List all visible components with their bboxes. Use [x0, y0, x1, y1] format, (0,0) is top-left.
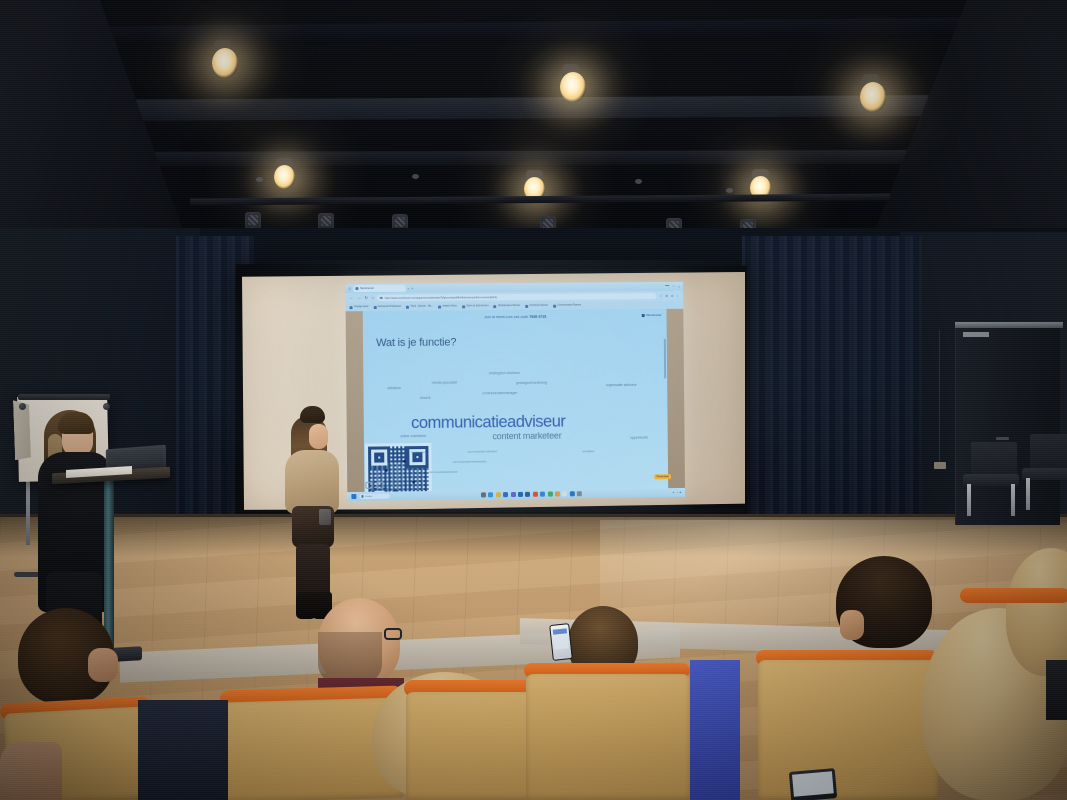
- tab-close-icon[interactable]: ×: [407, 286, 409, 290]
- bookmark-item[interactable]: Werkgroepen Nieuws: [494, 304, 520, 307]
- home-icon[interactable]: ⌂: [371, 296, 373, 300]
- back-icon[interactable]: ←: [349, 296, 353, 300]
- flipchart-knob-left: [19, 403, 26, 410]
- browser-toolbar-icons[interactable]: ☆ ⚙ ● ⋮: [660, 294, 680, 298]
- mentimeter-mark-icon: [642, 314, 645, 317]
- outlook-icon[interactable]: [518, 492, 523, 497]
- slide-navigation[interactable]: ‹ › 1 / 12: [365, 481, 395, 488]
- presenter1-hair-front: [58, 412, 94, 434]
- folder-icon: [494, 305, 497, 308]
- audience-left-face: [88, 648, 118, 682]
- word-icon[interactable]: [525, 492, 530, 497]
- folder-icon: [373, 306, 376, 309]
- stage-curtain-right: [742, 236, 922, 516]
- door-handle[interactable]: [996, 437, 1009, 440]
- bookmark-label: Overige items: [354, 306, 368, 308]
- previous-slide-icon[interactable]: ‹: [365, 482, 372, 489]
- present-button[interactable]: Presenteer: [654, 475, 671, 480]
- slide-letterbox-right: [666, 309, 685, 488]
- slide-letterbox-left: [346, 311, 365, 492]
- audience-blue-shirt: [690, 660, 740, 800]
- window-controls[interactable]: □ ×: [665, 284, 680, 288]
- audience-smartphone[interactable]: [549, 623, 573, 661]
- door-sign-plate: [963, 332, 989, 337]
- bookmark-label: Kennisnet Nieuws: [530, 305, 548, 307]
- browser-nav-buttons[interactable]: ← → ↻ ⌂: [349, 296, 374, 300]
- join-code: 7635 4715: [529, 315, 546, 319]
- lectern-post: [104, 478, 114, 651]
- light-switch[interactable]: [934, 462, 946, 469]
- next-slide-icon[interactable]: ›: [376, 482, 383, 489]
- store-icon[interactable]: [496, 492, 501, 497]
- auditorium-scene: ☰ Mentimeter × + □ × ← → ↻ ⌂ https://: [0, 0, 1067, 800]
- reload-icon[interactable]: ↻: [365, 296, 368, 300]
- projected-browser-window[interactable]: ☰ Mentimeter × + □ × ← → ↻ ⌂ https://: [345, 282, 685, 501]
- presenter2-tights: [296, 544, 330, 598]
- new-tab-button[interactable]: +: [411, 286, 413, 290]
- folder-icon: [350, 306, 353, 309]
- join-instruction: Join at menti.com use code 7635 4715: [484, 315, 546, 319]
- folder-icon: [525, 304, 528, 307]
- menu-icon[interactable]: ⋮: [676, 294, 679, 298]
- photos-icon[interactable]: [555, 491, 560, 496]
- file-explorer-icon[interactable]: [481, 492, 486, 497]
- network-icon[interactable]: ▲: [672, 492, 674, 494]
- calculator-icon[interactable]: [562, 491, 567, 496]
- glasses-icon: [384, 628, 402, 640]
- folder-icon: [553, 304, 556, 307]
- wordcloud-word: communicatiemedewerker: [453, 460, 487, 463]
- wordcloud-word: communicatie adviseur: [468, 450, 498, 453]
- address-bar[interactable]: https://www.mentimeter.com/app/presentat…: [377, 293, 657, 301]
- start-button-icon[interactable]: [351, 494, 356, 499]
- bookmark-item[interactable]: Gemeente Hoeksmeer: [373, 305, 401, 308]
- presenter2-face: [309, 424, 328, 449]
- audience-navy-jacket: [138, 700, 228, 800]
- bookmark-item[interactable]: Open de documenten: [462, 305, 489, 308]
- slide-counter: 1 / 12: [388, 483, 396, 487]
- wordcloud-word: organisatie adviseur: [606, 384, 637, 388]
- bookmark-item[interactable]: Overige items: [350, 306, 369, 309]
- wordcloud-word: bestuurder: [411, 451, 425, 454]
- profile-icon[interactable]: ●: [671, 294, 673, 298]
- forward-icon[interactable]: →: [357, 296, 361, 300]
- presenter-standing: [283, 406, 343, 620]
- star-icon[interactable]: ☆: [660, 294, 663, 298]
- url-text: https://www.mentimeter.com/app/presentat…: [384, 296, 497, 300]
- volume-icon[interactable]: ♪: [677, 491, 678, 493]
- smoke-detector-far-right: [726, 188, 733, 193]
- taskbar-app-icons[interactable]: [481, 491, 582, 497]
- excel-icon[interactable]: [547, 492, 552, 497]
- wordcloud-word: communicatieadviseur: [411, 413, 565, 431]
- taskbar-search[interactable]: Zoeken: [359, 493, 389, 499]
- audience-bald-hair-fringe: [318, 632, 382, 684]
- bookmark-label: Communicatie Plannen: [557, 305, 581, 307]
- bookmark-label: Intranet Home: [442, 305, 457, 307]
- minimize-icon[interactable]: [665, 284, 669, 285]
- wordcloud-word: adviseur: [388, 387, 401, 391]
- powerpoint-icon[interactable]: [533, 492, 538, 497]
- chrome-icon[interactable]: [570, 491, 575, 496]
- presenter2-sweater: [285, 450, 339, 514]
- taskbar-left-group[interactable]: Zoeken: [351, 493, 389, 499]
- flipchart-clip-bar: [18, 394, 110, 400]
- bookmark-label: Werk - Dossier - Ha...: [411, 306, 433, 308]
- smoke-detector-right: [635, 179, 642, 184]
- wordcloud-word: gedragsverandering: [516, 382, 547, 386]
- audience-smartphone-2[interactable]: [789, 768, 837, 800]
- door-header-rail: [955, 322, 1063, 328]
- wordcloud-word: online marketeer: [400, 435, 426, 439]
- browser-tab-mentimeter[interactable]: Mentimeter: [353, 285, 405, 292]
- chair-rail-6[interactable]: [960, 588, 1067, 603]
- slide-question: Wat is je functie?: [376, 336, 456, 349]
- bookmark-item[interactable]: Werk - Dossier - Ha...: [406, 305, 433, 308]
- close-icon[interactable]: ×: [678, 284, 680, 288]
- bookmark-label: Gemeente Hoeksmeer: [378, 306, 401, 308]
- folder-icon: [462, 305, 465, 308]
- bookmark-item[interactable]: Kennisnet Nieuws: [525, 304, 548, 307]
- mentimeter-logo: Mentimeter: [642, 313, 662, 317]
- ceiling-beam-front: [0, 16, 1067, 47]
- tab-list-icon[interactable]: ☰: [348, 287, 351, 291]
- wordcloud-word: socialiser: [582, 450, 594, 453]
- battery-icon[interactable]: ■: [680, 491, 681, 493]
- folder-icon: [438, 305, 441, 308]
- wordcloud-word: content marketeer: [492, 432, 561, 442]
- presenter2-hair-bun: [300, 406, 325, 423]
- wordcloud-word: communicatieadviseur: [429, 471, 458, 474]
- word-cloud: communicatieadviseur content marketeer s…: [363, 371, 668, 486]
- maximize-icon[interactable]: □: [673, 284, 675, 288]
- search-icon: [361, 495, 363, 497]
- wordcloud-word: docent: [420, 397, 431, 401]
- presenter2-shorts: [292, 506, 334, 548]
- onedrive-icon[interactable]: [540, 492, 545, 497]
- bookmark-item[interactable]: Communicatie Plannen: [553, 304, 581, 307]
- extensions-icon[interactable]: ⚙: [665, 294, 668, 298]
- wordcloud-word: media-specialist: [432, 382, 457, 386]
- favicon-mentimeter: [355, 287, 358, 290]
- wordcloud-word: communicatiemanager: [482, 392, 517, 396]
- mentimeter-slide: Join at menti.com use code 7635 4715 Men…: [346, 309, 685, 492]
- audience-chair-4[interactable]: [526, 674, 690, 800]
- folder-icon: [406, 305, 409, 308]
- mail-icon[interactable]: [503, 492, 508, 497]
- page-scrollbar[interactable]: [664, 339, 666, 379]
- smoke-detector-mid: [412, 174, 419, 179]
- bookmark-label: Werkgroepen Nieuws: [498, 305, 520, 307]
- audience-center-ear: [840, 610, 864, 640]
- settings-icon[interactable]: [577, 491, 582, 496]
- tab-title: Mentimeter: [360, 285, 374, 292]
- audience-chair-5[interactable]: [758, 660, 938, 800]
- ceiling: [0, 0, 1067, 250]
- teams-icon[interactable]: [511, 492, 516, 497]
- search-placeholder: Zoeken: [365, 495, 372, 497]
- stage-light-fixture-1: [245, 212, 261, 229]
- audience-chair-sliver: [1046, 660, 1067, 720]
- wordcloud-word: opperhoofd: [630, 437, 648, 441]
- wall-cable: [939, 330, 940, 463]
- bookmark-item[interactable]: Intranet Home: [438, 305, 457, 308]
- bookmark-label: Open de documenten: [467, 305, 489, 307]
- audience-raised-hand: [0, 742, 62, 800]
- mentimeter-logo-text: Mentimeter: [646, 313, 661, 317]
- wordcloud-word: strategisch adviseur: [489, 372, 520, 376]
- smoke-detector-left: [256, 177, 263, 182]
- taskbar-tray[interactable]: ▲ ♪ ■: [672, 491, 681, 493]
- edge-icon[interactable]: [488, 492, 493, 497]
- lock-icon: [380, 297, 383, 300]
